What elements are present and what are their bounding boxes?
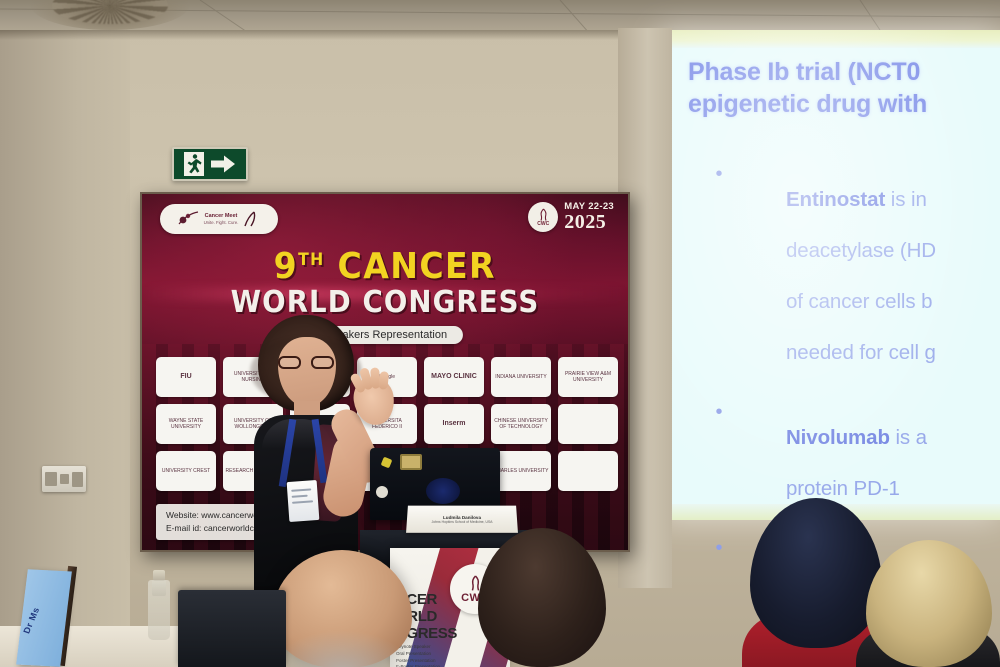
bullet-dot-icon: • [708,400,730,527]
bullet-cont-4: protein PD-1 [786,477,900,500]
bullet-rest-entinostat: is in [885,188,927,211]
logo-sub-wayne: WAYNE STATE UNIVERSITY [158,418,214,431]
event-date-year: 2025 [564,212,614,232]
logo-label-fiu: FIU [180,373,191,382]
bullet-cont-1: deacetylase (HD [786,239,936,262]
slide-title-line-1: Phase Ib trial (NCT0 [688,56,1000,88]
logo-sub-indiana: INDIANA UNIVERSITY [495,374,546,380]
logo-tile-wayne-state: WAYNE STATE UNIVERSITY [156,404,216,444]
slide-bullet-nivolumab: • Nivolumab is a protein PD-1 [708,400,1000,527]
organizer-logo-badge: Cancer Meet Unite. Fight. Cure. [160,204,278,234]
laptop-sticker-dot [376,486,388,498]
logo-tile-indiana-univ: INDIANA UNIVERSITY [491,357,551,397]
organizer-mark-icon [178,211,200,227]
audience-member-bald-fringe [268,630,416,667]
banner-title-block: 9TH CANCER WORLD CONGRESS [142,246,628,320]
presentation-scene: Phase Ib trial (NCT0 epigenetic drug wit… [0,0,1000,667]
organizer-ribbon-icon [242,211,260,227]
slide-bullet-entinostat: • Entinostat is in deacetylase (HD of ca… [708,162,1000,391]
screen-top-band [660,30,1000,48]
slide-title-line-2: epigenetic drug with [688,88,1000,120]
banner-title-number: 9 [274,246,298,287]
logo-tile-inserm: Inserm [424,404,484,444]
organizer-name-text: Cancer Meet [205,213,238,219]
logo-tile-prairie-view: PRAIRIE VIEW A&M UNIVERSITY [558,357,618,397]
bullet-term-entinostat: Entinostat [786,188,885,211]
bullet-cont-3: needed for cell g [786,341,936,364]
organizer-name: Cancer Meet Unite. Fight. Cure. [204,213,239,225]
logo-tile-mayo-clinic: MAYO CLINIC [424,357,484,397]
ceiling [0,0,1000,34]
laptop-sticker-circle [426,478,460,504]
wall-socket [42,466,86,492]
speaker-affiliation: Johns Hopkins School of Medicine, USA [431,519,492,523]
logo-label-mayo: MAYO CLINIC [431,373,477,382]
speaker-name-card: Ludmila Danilova Johns Hopkins School of… [406,506,518,533]
cwc-seal-label: CWC [537,221,549,227]
water-bottle [148,580,170,640]
banner-title-ordinal: TH [298,250,325,270]
projection-screen: Phase Ib trial (NCT0 epigenetic drug wit… [660,30,1000,520]
banner-title-word: CANCER [338,246,496,287]
bottle-neck [152,580,166,596]
awareness-ribbon-icon [538,208,549,221]
logo-tile-blank-1 [558,404,618,444]
bullet-text-entinostat: Entinostat is in deacetylase (HD of canc… [730,162,936,391]
organizer-tagline: Unite. Fight. Cure. [204,220,239,225]
laptop-sticker-yellow [381,457,393,469]
laptop-sticker-frame [400,454,422,470]
bullet-term-nivolumab: Nivolumab [786,426,890,449]
audience-laptop [178,590,286,667]
logo-sub-univ-4: UNIVERSITY CREST [162,468,210,474]
conference-badge [287,480,320,522]
bullet-rest-nivolumab: is a [890,426,927,449]
logo-tile-univ-4: UNIVERSITY CREST [156,451,216,491]
logo-tile-charles-univ: CHARLES UNIVERSITY [491,451,551,491]
event-date-text: MAY 22-23 2025 [564,202,614,232]
logo-tile-chinese-univ: CHINESE UNIVERSITY OF TECHNOLOGY [491,404,551,444]
banner-title-line-1: 9TH CANCER [274,246,496,287]
eyeglasses-icon [278,356,338,369]
bullet-dot-icon: • [708,536,730,663]
logo-label-inserm: Inserm [443,420,466,429]
emergency-exit-sign [172,147,248,181]
logo-sub-prairie: PRAIRIE VIEW A&M UNIVERSITY [560,371,616,384]
logo-tile-blank-2 [558,451,618,491]
event-date-badge: CWC MAY 22-23 2025 [528,202,614,232]
arrow-right-icon [209,153,237,175]
slide-title: Phase Ib trial (NCT0 epigenetic drug wit… [688,56,1000,120]
bullet-dot-icon: • [708,162,730,391]
cwc-seal-icon: CWC [528,202,558,232]
logo-sub-charles: CHARLES UNIVERSITY [493,468,548,474]
placard-text: Dr Ms [21,606,41,635]
logo-tile-fiu: FIU [156,357,216,397]
logo-sub-chinese: CHINESE UNIVERSITY OF TECHNOLOGY [493,418,549,431]
running-person-exit-icon [184,152,204,176]
bullet-cont-2: of cancer cells b [786,290,932,313]
